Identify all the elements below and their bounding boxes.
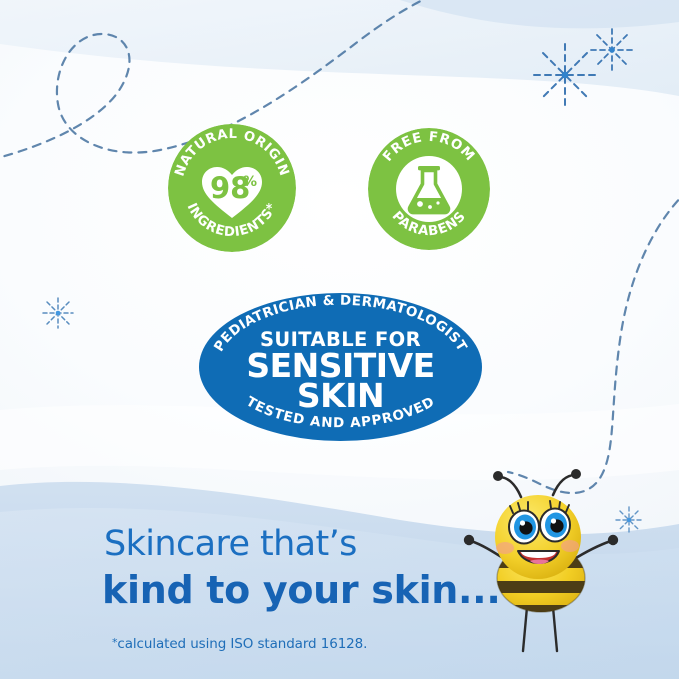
headline-line-2: kind to your skin... — [102, 569, 574, 613]
footnote: *calculated using ISO standard 16128. — [112, 636, 367, 652]
badge-natural-origin[interactable]: 98 % NATURAL ORIGIN INGREDIENTS* — [168, 124, 296, 252]
headline-block: Skincare that’s kind to your skin... — [104, 527, 574, 613]
footnote-text: calculated using ISO standard 16128. — [117, 636, 367, 652]
badge-sensitive-line3: SKIN — [297, 376, 384, 415]
snowflake-left — [43, 298, 73, 328]
bee-antennae — [493, 469, 581, 497]
badge-free-from-parabens[interactable]: FREE FROM PARABENS — [368, 128, 490, 250]
badge-natural-origin-unit: % — [243, 174, 257, 190]
bee-legs — [523, 607, 557, 651]
badge-sensitive-skin[interactable]: PEDIATRICIAN & DERMATOLOGIST SUITABLE FO… — [199, 293, 482, 441]
headline-line-1: Skincare that’s — [104, 527, 574, 562]
promo-banner: 98 % NATURAL ORIGIN INGREDIENTS* FREE FR… — [0, 0, 679, 679]
